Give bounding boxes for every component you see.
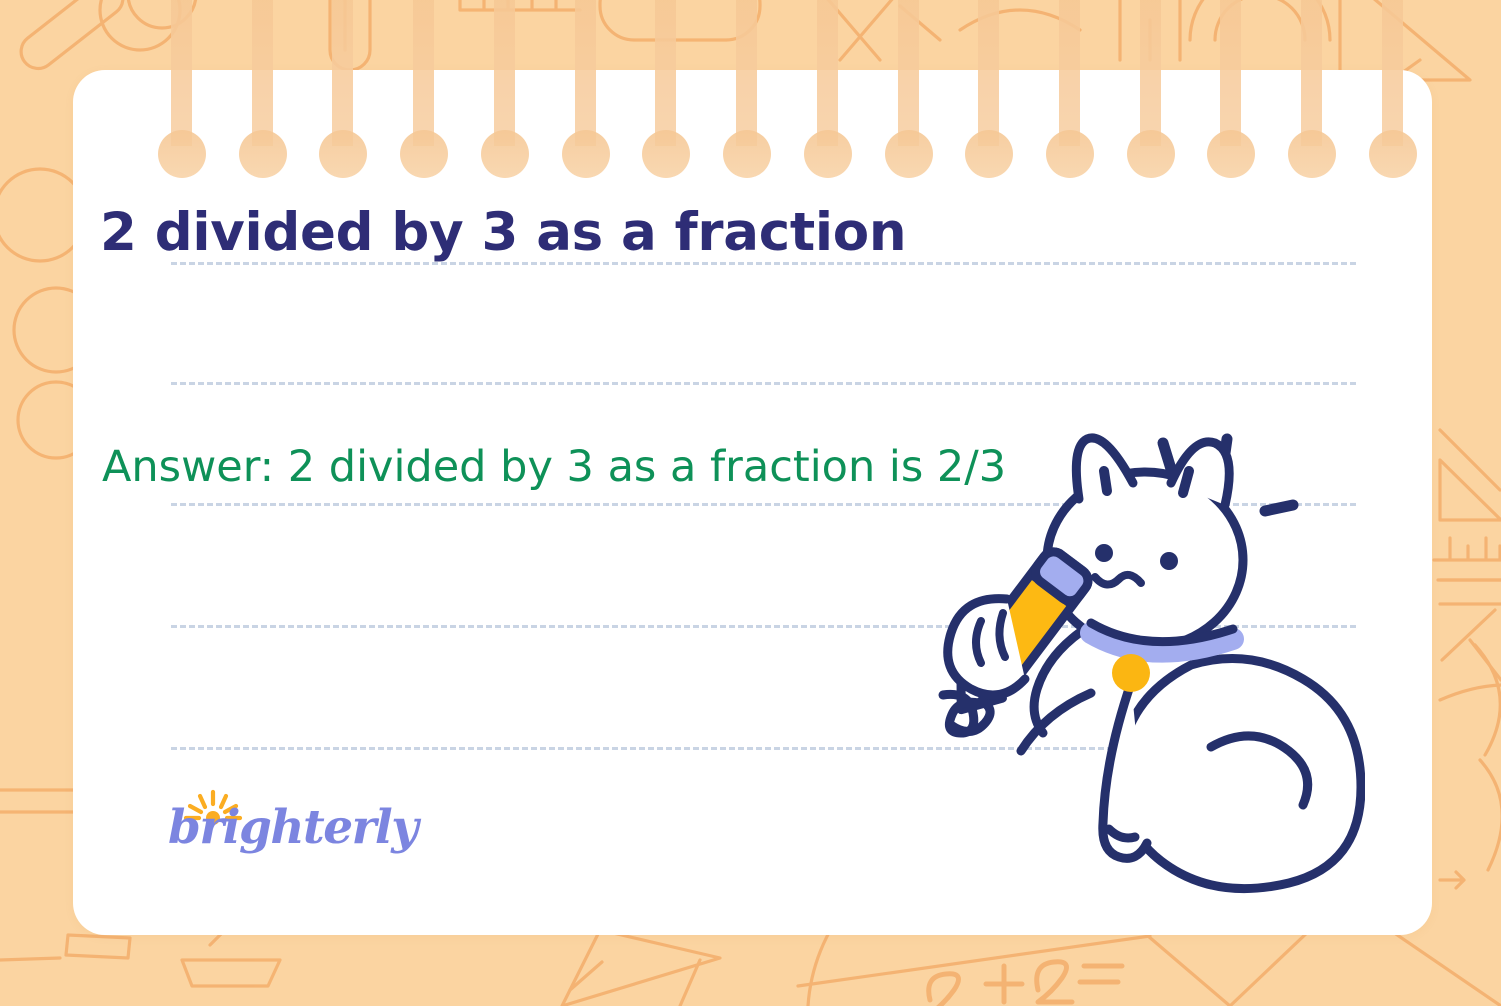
page-root: 2 divided by 3 as a fraction Answer: 2 d… <box>0 0 1501 1006</box>
answer-text: Answer: 2 divided by 3 as a fraction is … <box>102 442 1006 492</box>
rule-line <box>171 747 1356 750</box>
logo-wordmark: brighterly <box>168 804 417 851</box>
rule-line <box>171 503 1356 506</box>
brighterly-logo[interactable]: brighterly <box>168 786 368 864</box>
rule-line <box>171 382 1356 385</box>
page-title: 2 divided by 3 as a fraction <box>100 202 906 263</box>
rule-line <box>171 625 1356 628</box>
